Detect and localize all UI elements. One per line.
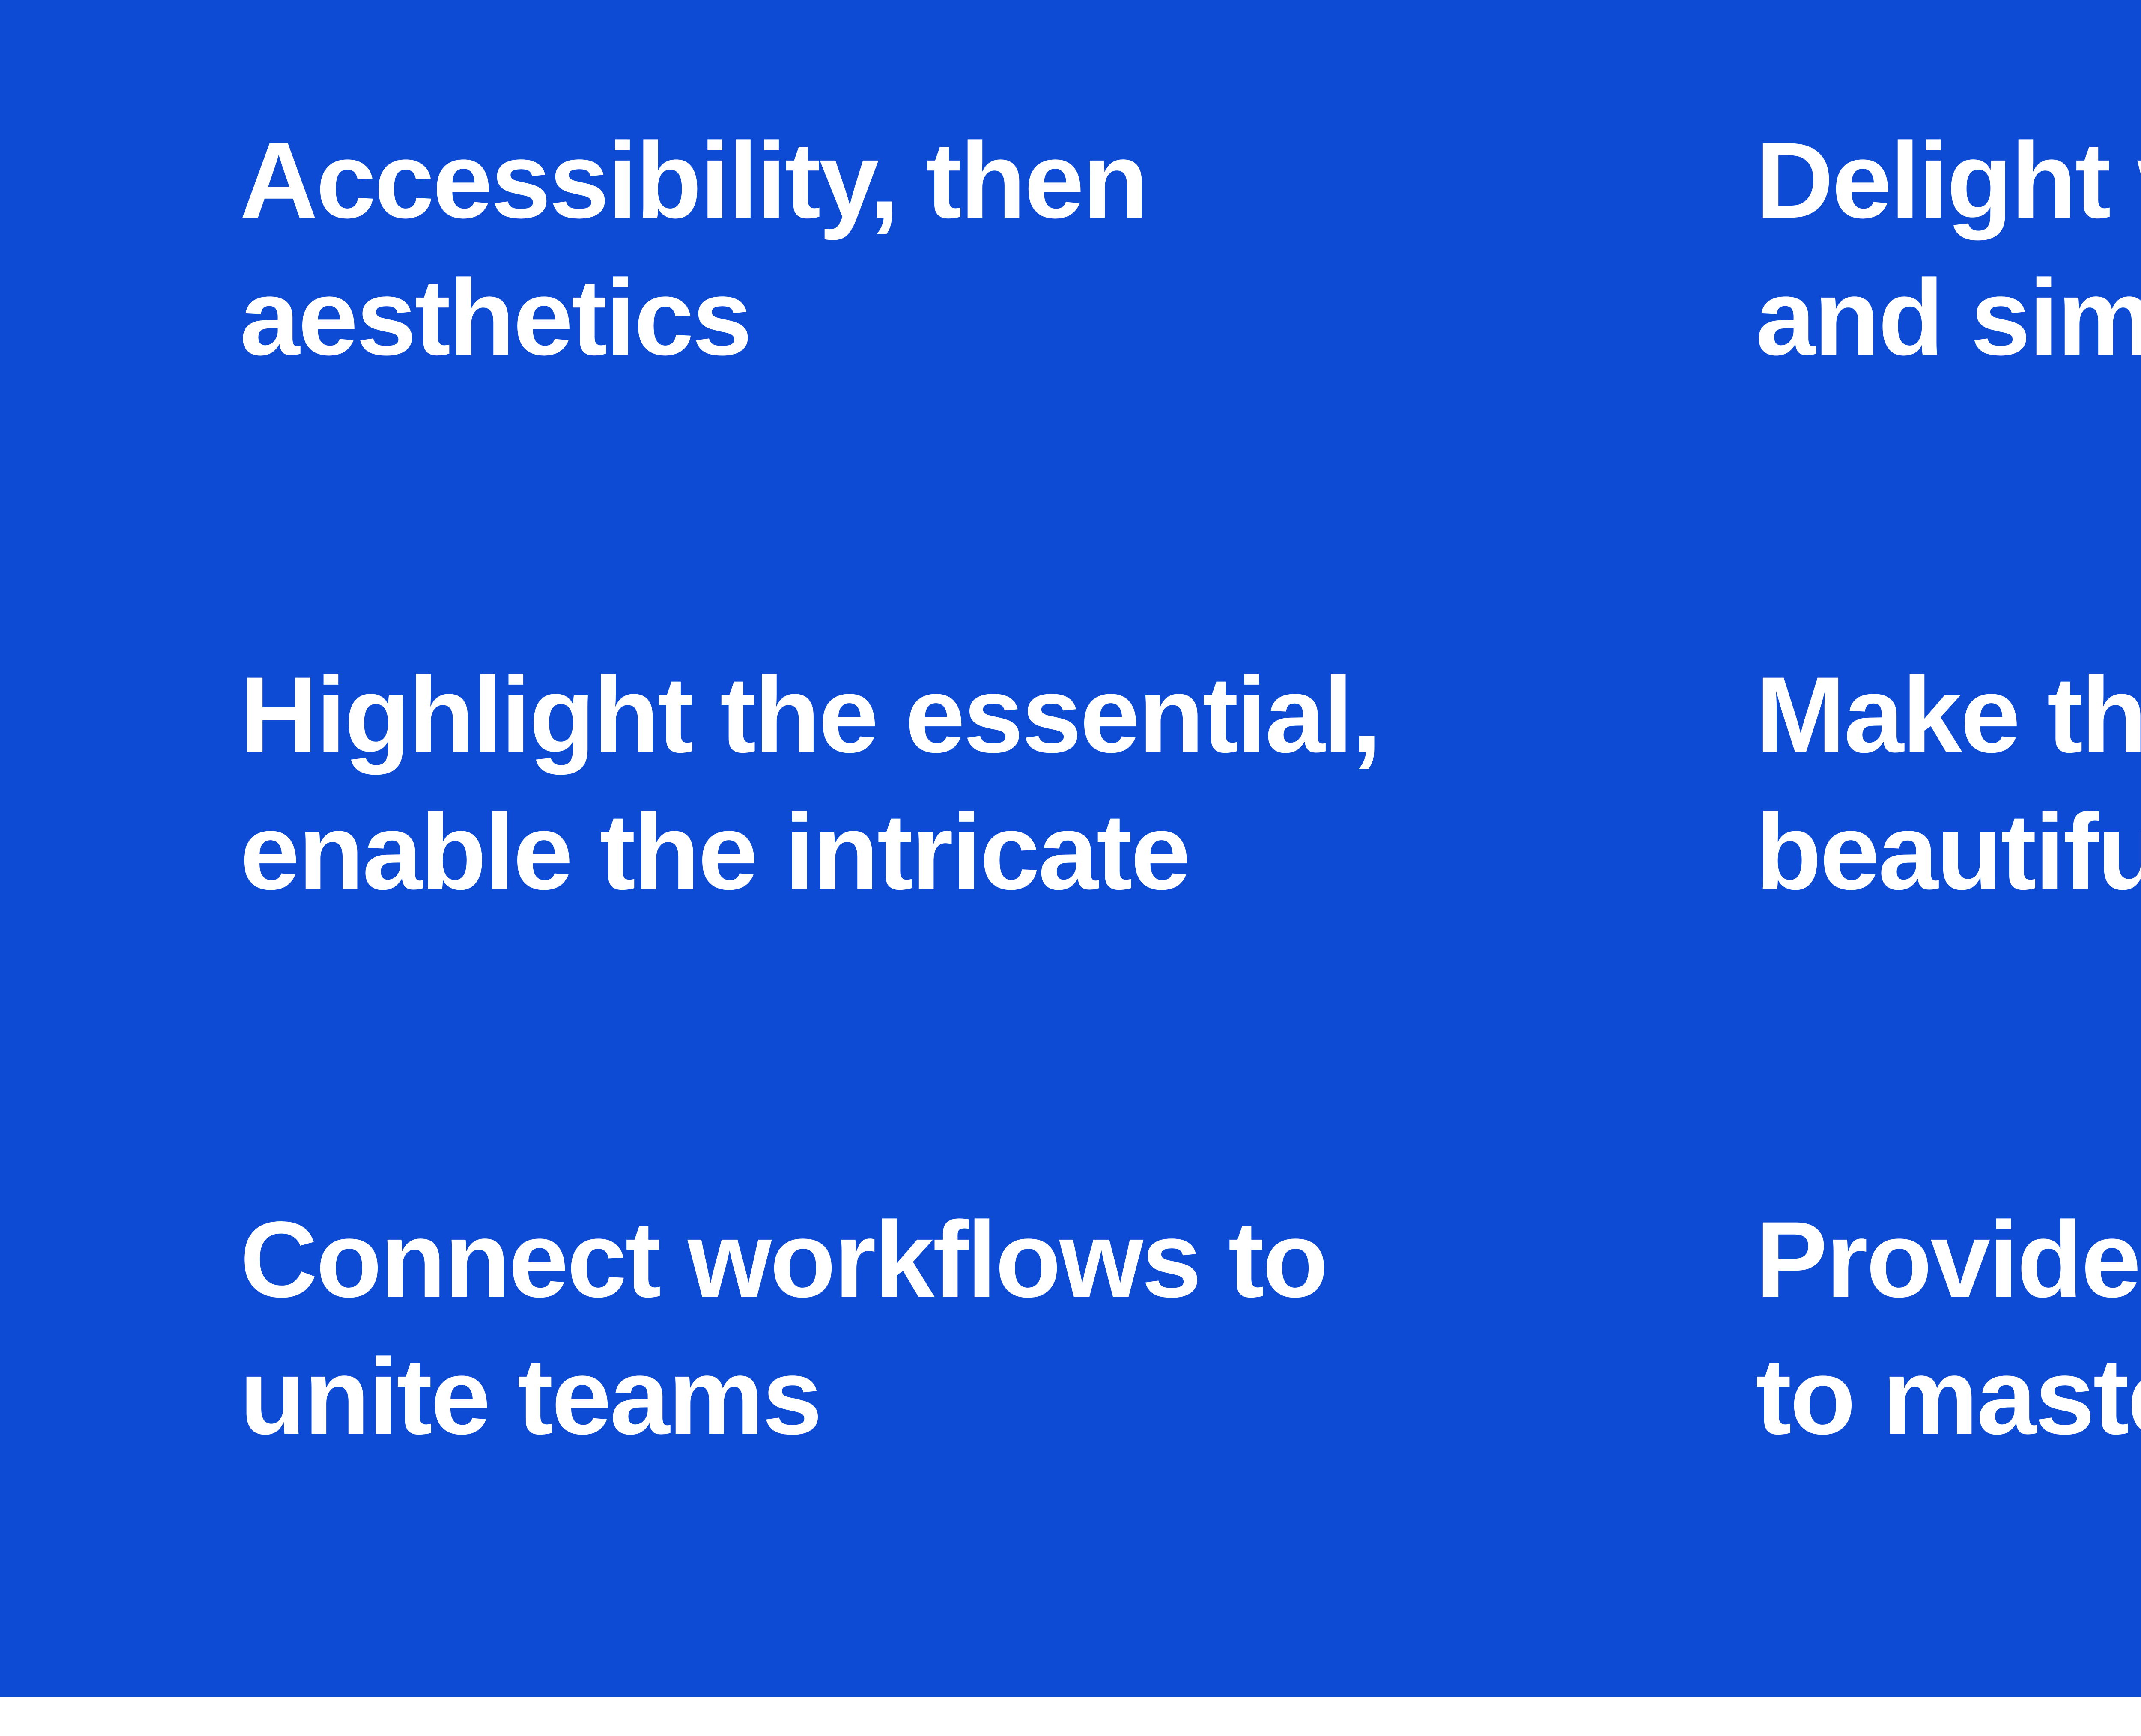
principle-connect-workflows-to-unite-teams: Connect workflows to unite teams [240, 1191, 1756, 1736]
principle-headline: Delight with speed and simplicity [1756, 112, 2141, 386]
principles-slide: Accessibility, then aesthetics Delight w… [0, 0, 2141, 1697]
principles-grid: Accessibility, then aesthetics Delight w… [0, 0, 2141, 1697]
principle-headline: Connect workflows to unite teams [240, 1191, 1756, 1465]
principle-provide-paths-to-mastery: Provide paths to mastery [1756, 1191, 2141, 1736]
principle-headline: Provide paths to mastery [1756, 1191, 2141, 1465]
principle-headline: Accessibility, then aesthetics [240, 112, 1756, 386]
principle-accessibility-then-aesthetics: Accessibility, then aesthetics [240, 112, 1756, 647]
principle-highlight-the-essential-enable-the-intricate: Highlight the essential, enable the intr… [240, 647, 1756, 1191]
principle-delight-with-speed-and-simplicity: Delight with speed and simplicity [1756, 112, 2141, 647]
principle-make-the-complex-beautifully-clear: Make the complex beautifully clear [1756, 647, 2141, 1191]
principle-headline: Highlight the essential, enable the intr… [240, 647, 1756, 921]
principle-headline: Make the complex beautifully clear [1756, 647, 2141, 921]
